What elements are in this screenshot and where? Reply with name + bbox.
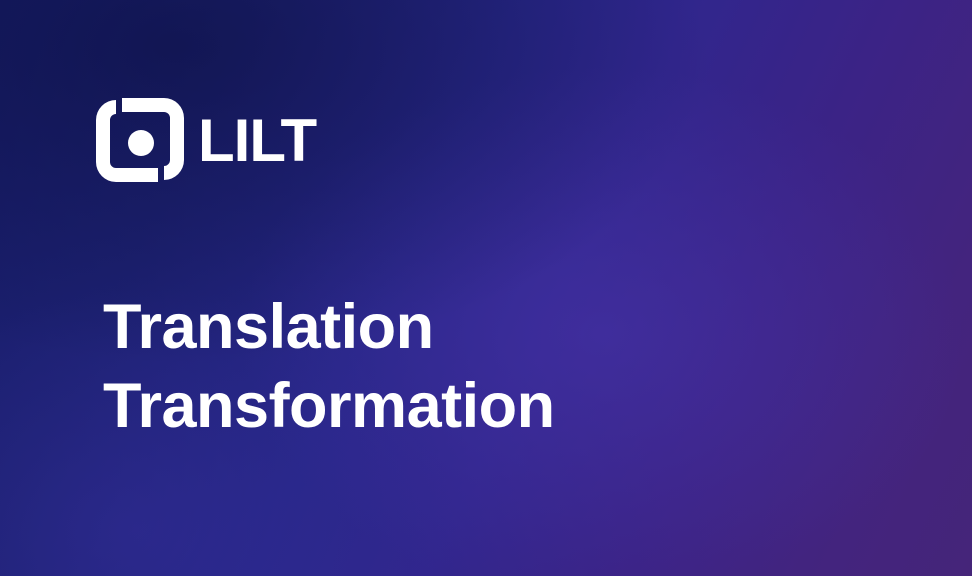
- headline-line-2: Transformation: [103, 367, 803, 446]
- lilt-wordmark-text: LILT: [198, 111, 317, 169]
- lilt-logo-mark-icon: [96, 98, 184, 182]
- slide-content: LILT Translation Transformation: [0, 0, 972, 576]
- lilt-wordmark: LILT: [198, 111, 340, 169]
- brand-logo-lockup: LILT: [96, 98, 340, 182]
- page-title: Translation Transformation: [103, 288, 803, 446]
- lilt-logo-center-dot: [128, 130, 154, 156]
- headline-line-1: Translation: [103, 288, 803, 367]
- title-slide: LILT Translation Transformation: [0, 0, 972, 576]
